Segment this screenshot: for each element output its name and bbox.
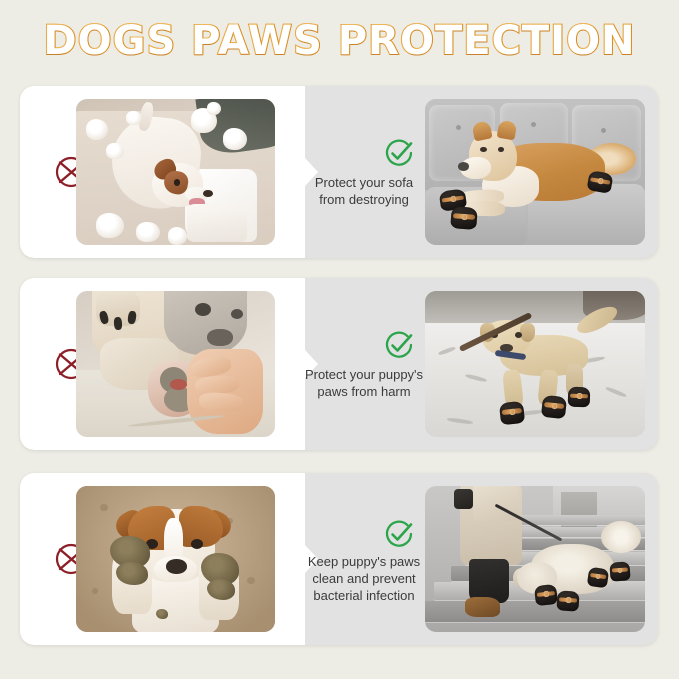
- before-photo-3: [76, 486, 275, 632]
- after-photo-2: [425, 291, 645, 437]
- after-photo-1: [425, 99, 645, 245]
- page-title-container: DOGS PAWS PROTECTION: [0, 16, 679, 66]
- benefit-text-line: Protect your sofa: [299, 174, 429, 191]
- benefit-text-line: paws from harm: [299, 383, 429, 400]
- before-photo-1: [76, 99, 275, 245]
- circled-check-icon: [382, 517, 416, 551]
- benefit-text-3: Keep puppy's paws clean and prevent bact…: [299, 553, 429, 604]
- infographic-page: DOGS PAWS PROTECTION: [0, 0, 679, 679]
- after-photo-3: [425, 486, 645, 632]
- circled-check-icon: [382, 328, 416, 362]
- benefit-text-1: Protect your sofa from destroying: [299, 174, 429, 208]
- benefit-text-line: from destroying: [299, 191, 429, 208]
- circled-check-icon: [382, 136, 416, 170]
- benefit-text-block-3: Keep puppy's paws clean and prevent bact…: [305, 473, 418, 645]
- benefit-text-2: Protect your puppy's paws from harm: [299, 366, 429, 400]
- before-card-3: [20, 473, 305, 645]
- benefit-text-line: bacterial infection: [299, 587, 429, 604]
- benefit-text-block-2: Protect your puppy's paws from harm: [305, 278, 418, 450]
- benefit-text-line: clean and prevent: [299, 570, 429, 587]
- benefit-row-1: Protect your sofa from destroying: [20, 86, 658, 258]
- benefit-row-3: Keep puppy's paws clean and prevent bact…: [20, 473, 658, 645]
- benefit-text-line: Protect your puppy's: [299, 366, 429, 383]
- before-photo-2: [76, 291, 275, 437]
- before-card-2: [20, 278, 305, 450]
- benefit-text-block-1: Protect your sofa from destroying: [305, 86, 418, 258]
- page-title: DOGS PAWS PROTECTION: [43, 18, 635, 64]
- before-card-1: [20, 86, 305, 258]
- benefit-text-line: Keep puppy's paws: [299, 553, 429, 570]
- benefit-row-2: Protect your puppy's paws from harm: [20, 278, 658, 450]
